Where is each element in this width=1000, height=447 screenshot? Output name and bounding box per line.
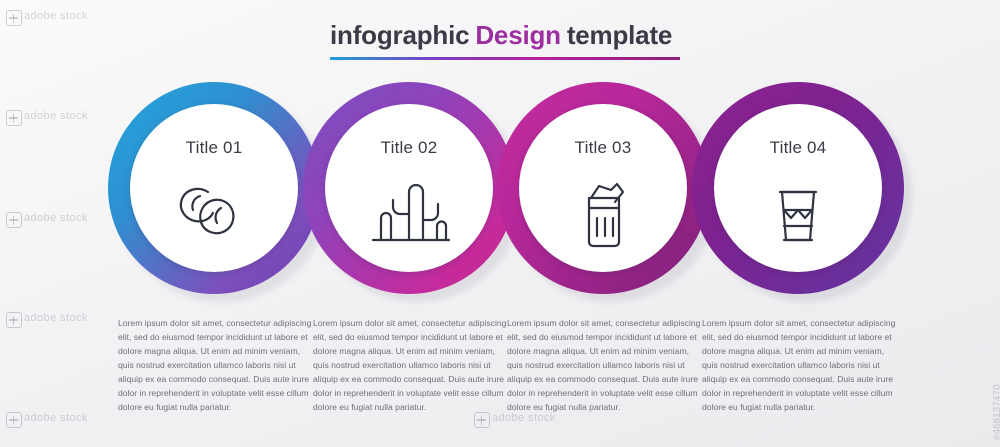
cactus-icon: [359, 174, 459, 252]
infographic-canvas: infographicDesigntemplate Title 01 Lorem…: [0, 0, 1000, 447]
step-2-title: Title 02: [303, 138, 515, 158]
step-1-body: Lorem ipsum dolor sit amet, consectetur …: [118, 317, 314, 414]
drum-icon: [748, 174, 848, 252]
step-4-title: Title 04: [692, 138, 904, 158]
beans-icon: [164, 174, 264, 252]
step-card-4[interactable]: Title 04 Lorem ipsum dolor sit amet, con…: [692, 82, 922, 412]
step-3-title: Title 03: [497, 138, 709, 158]
step-1-title: Title 01: [108, 138, 320, 158]
step-3-body: Lorem ipsum dolor sit amet, consectetur …: [507, 317, 703, 414]
burrito-icon: [553, 174, 653, 252]
step-2-body: Lorem ipsum dolor sit amet, consectetur …: [313, 317, 509, 414]
title-word-3: template: [567, 20, 672, 50]
title-underline-rule: [330, 57, 680, 60]
title-word-2: Design: [475, 20, 560, 50]
page-title: infographicDesigntemplate: [330, 20, 690, 60]
step-4-body: Lorem ipsum dolor sit amet, consectetur …: [702, 317, 898, 414]
title-word-1: infographic: [330, 20, 469, 50]
